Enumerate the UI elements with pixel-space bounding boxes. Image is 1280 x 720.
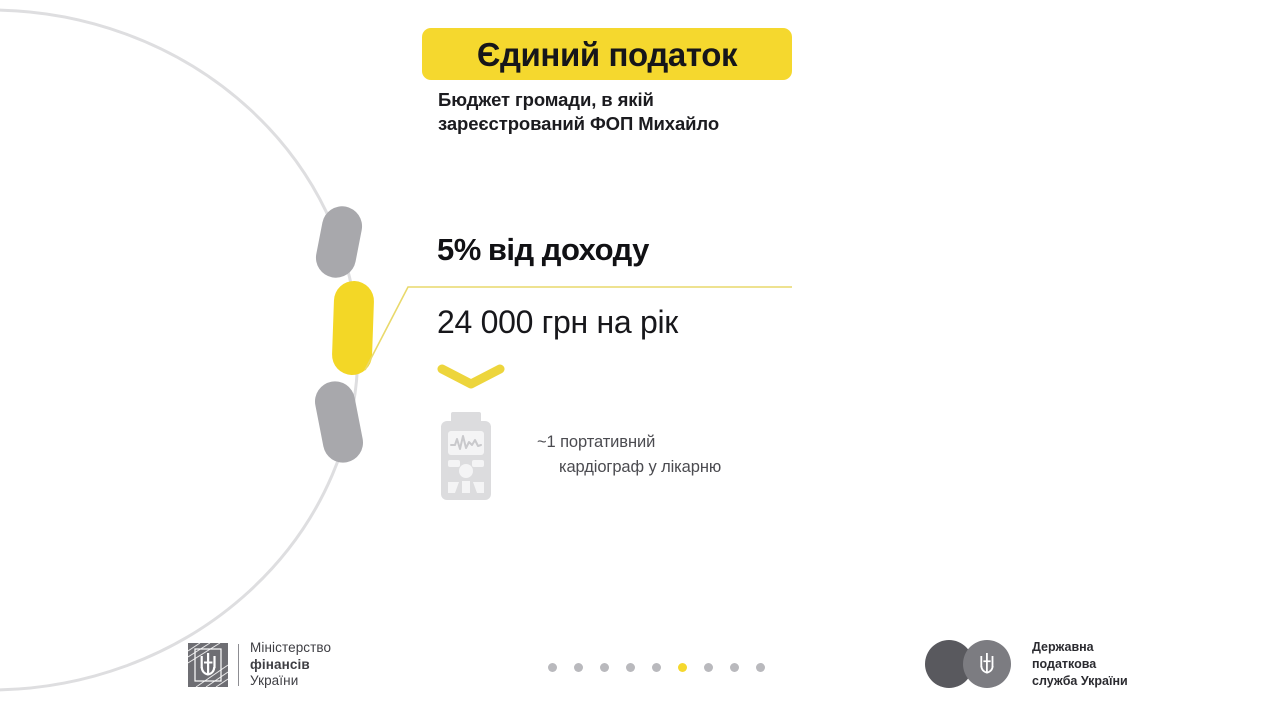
- portable-cardiograph-icon: [437, 412, 499, 502]
- capsule-segment-active: [331, 280, 374, 375]
- pagination-dot-4[interactable]: [626, 663, 635, 672]
- pagination-dot-6-active[interactable]: [678, 663, 687, 672]
- minfin-line-2: фінансів: [250, 657, 331, 674]
- tax-rate-label: від доходу: [488, 232, 649, 267]
- tax-service-circles-trident-icon: [925, 640, 1023, 688]
- capsule-segment-upper: [312, 203, 365, 281]
- minfin-line-1: Міністерство: [250, 640, 331, 657]
- minfin-line-3: України: [250, 673, 331, 690]
- pagination-dot-3[interactable]: [600, 663, 609, 672]
- equivalence-block: ~1 портативний кардіограф у лікарню: [437, 408, 857, 503]
- pagination-dot-1[interactable]: [548, 663, 557, 672]
- subtitle-line-1: Бюджет громади, в якій: [438, 88, 838, 112]
- subtitle-line-2: зареєстрований ФОП Михайло: [438, 112, 838, 136]
- state-tax-service-logo: Державна податкова служба України: [925, 640, 1128, 688]
- page-title-badge: Єдиний податок: [422, 28, 792, 80]
- tax-line-3: служба України: [1032, 673, 1128, 690]
- tax-rate-line: 5%від доходу: [437, 234, 649, 265]
- tax-line-2: податкова: [1032, 656, 1128, 673]
- equivalence-caption-line-1: ~1 портативний: [537, 433, 655, 451]
- page-title: Єдиний податок: [477, 38, 737, 71]
- logo-divider: [238, 644, 239, 686]
- background-circle: [0, 10, 358, 690]
- ministry-of-finance-wordmark: Міністерство фінансів України: [250, 640, 331, 690]
- pagination-dots[interactable]: [548, 663, 765, 672]
- state-tax-service-wordmark: Державна податкова служба України: [1032, 639, 1128, 690]
- pagination-dot-2[interactable]: [574, 663, 583, 672]
- subtitle-block: Бюджет громади, в якій зареєстрований ФО…: [438, 88, 838, 137]
- ministry-of-finance-logo: Міністерство фінансів України: [188, 642, 331, 688]
- pagination-dot-5[interactable]: [652, 663, 661, 672]
- pagination-dot-7[interactable]: [704, 663, 713, 672]
- chevron-down-icon: [437, 362, 511, 392]
- equivalence-caption: ~1 портативний кардіограф у лікарню: [537, 430, 857, 480]
- pagination-dot-9[interactable]: [756, 663, 765, 672]
- tax-rate-value: 5%: [437, 232, 481, 267]
- annual-amount: 24 000 грн на рік: [437, 306, 678, 338]
- equivalence-caption-line-2: кардіограф у лікарню: [537, 455, 857, 480]
- pagination-dot-8[interactable]: [730, 663, 739, 672]
- tax-line-1: Державна: [1032, 639, 1128, 656]
- capsule-segment-lower: [312, 378, 367, 466]
- ukraine-trident-emblem-icon: [188, 643, 228, 687]
- slide-root: Єдиний податок Бюджет громади, в якій за…: [0, 0, 1280, 720]
